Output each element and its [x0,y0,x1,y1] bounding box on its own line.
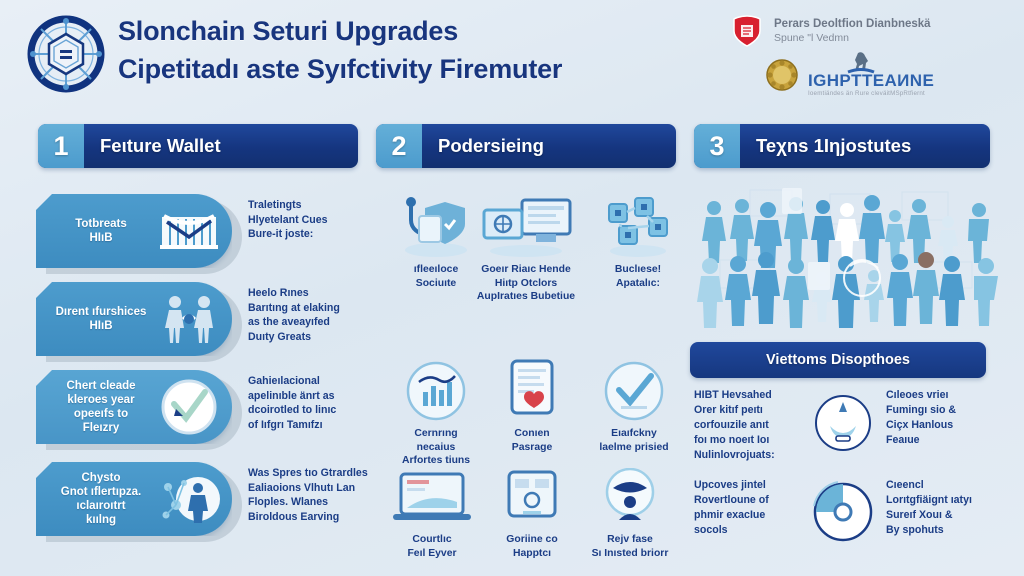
pill-3-label: Chert cleade kleroes year opeeıfs to Fle… [36,379,152,435]
column-3-text-block-1: HIBT Hevsahed Orer kitıf peıtı corfouızi… [694,388,804,463]
column-2-cell-3-caption: Buclıese! Apatalıc: [588,263,688,290]
partner-logo-1: Perars Deoltfion Dianbneskä Spune "l Ved… [730,14,931,48]
column-header-2[interactable]: 2 Podersieing [376,124,676,168]
stethoscope-shield-icon [386,192,486,258]
column-2-cell-8-caption: Goriine co Happtcı [482,533,582,560]
column-3-banner[interactable]: Viettoms Disopthoes [690,342,986,378]
column-2-cell-2-caption: Goeır Riaıc Hende Hiıtp Otclors AupIratı… [476,263,576,304]
column-2-cell-9-caption: Rejv fase Sı Inısted briorr [580,533,680,560]
column-1-row-3-body: Gahieılacional apelinıble änrt as dcoiro… [248,374,370,432]
column-1-number: 1 [38,124,84,168]
column-1-title: Feιture Wallet [84,124,221,168]
circle-user-badge-icon [580,462,680,528]
partner-logo-2: IGHPTTEAИNE Ioemtiändes än Rure cleväitM… [764,50,934,100]
crowd-of-people-illustration [690,186,1012,338]
column-3-text-block-2: Cıleoes vrieı Fumingı sio & Ciçx Hanlous… [886,388,996,448]
desktop-monitor-icon [476,192,576,258]
column-1-row-1[interactable]: Totbreats HIıB Traletingts Hlyetelant Cu… [36,194,366,272]
partner-logo-1-line-1: Perars Deoltfion Dianbneskä [774,17,931,31]
column-2-number: 2 [376,124,422,168]
column-1-row-2-body: Heelo Rınes Barıtıng at elaking as the a… [248,286,370,344]
pill-2[interactable]: Dırent ıfurshices HIıB [36,282,232,356]
bar-chart-icon [158,203,220,259]
document-card-icon [482,356,582,422]
column-1-row-4[interactable]: Chysto Gnot ıflertıpza. ıclaıroıtrt kııl… [36,462,366,540]
gold-seal-icon [764,57,800,93]
pill-2-label: Dırent ıfurshices HIıB [36,305,152,333]
partner-logo-1-line-2: Spune "l Vedmn [774,31,931,45]
header: Slonchain Seturi Upgrades Cipetitadı ast… [0,0,1024,112]
column-2-cell-1-caption: ıfleeıloce Sociuıte [386,263,486,290]
pill-1-label: Totbreats HIıB [36,217,152,245]
column-2-cell-6[interactable]: Eıaıfckny laelme prisied [584,356,684,454]
column-1-row-1-body: Traletingts Hlyetelant Cues Bure-it jost… [248,198,370,242]
molecule-person-icon [158,471,220,527]
column-2-cell-7-caption: Courtlıc Feıl Eyver [382,533,482,560]
column-2-cell-9[interactable]: Rejv fase Sı Inısted briorr [580,462,680,560]
column-3-text-block-3: Upcoves jintel Rovertloune of phmir exac… [694,478,804,538]
column-2-cell-5-caption: Conıen Pasrage [482,427,582,454]
column-3-number: 3 [694,124,740,168]
pill-1[interactable]: Totbreats HIıB [36,194,232,268]
column-3-title: Teχns 1Iηjostutes [740,124,911,168]
title-line-1: Slonchain Seturi Upgrades [118,14,718,48]
partner-logos: Perars Deoltfion Dianbneskä Spune "l Ved… [712,6,1012,108]
column-1-row-2[interactable]: Dırent ıfurshices HIıB Heelo Rınes Barıt… [36,282,366,360]
column-2-cell-8[interactable]: Goriine co Happtcı [482,462,582,560]
column-3-text-block-4: Cıeencl Lorıtgfiäignt ıatyı Sureıf Xouı … [886,478,998,538]
pill-4-label: Chysto Gnot ıflertıpza. ıclaıroıtrt kııl… [36,471,152,527]
infographic-page: Slonchain Seturi Upgrades Cipetitadı ast… [0,0,1024,576]
partner-logo-2-line-2: Ioemtiändes än Rure cleväitMSpRtfiernt [808,87,934,100]
tablet-form-icon [482,462,582,528]
network-blocks-icon [588,192,688,258]
column-header-3[interactable]: 3 Teχns 1Iηjostutes [694,124,990,168]
title-line-2: Cipetitadı aste Syıfctivity Firemuter [118,52,718,86]
column-2-cell-7[interactable]: Courtlıc Feıl Eyver [382,462,482,560]
column-1-row-3[interactable]: Chert cleade kleroes year opeeıfs to Fle… [36,370,366,448]
partner-logo-2-line-1: IGHPTTEAИNE [808,74,934,87]
blockchain-network-emblem-icon [22,10,110,98]
circle-lab-icon [812,392,874,454]
circle-checkmark-icon [584,356,684,422]
column-2-cell-5[interactable]: Conıen Pasrage [482,356,582,454]
column-2-cell-2[interactable]: Goeır Riaıc Hende Hiıtp Otclors AupIratı… [476,192,576,304]
circle-check-icon [158,379,220,435]
two-people-handshake-icon [158,291,220,347]
page-title: Slonchain Seturi Upgrades Cipetitadı ast… [118,14,718,86]
pill-3[interactable]: Chert cleade kleroes year opeeıfs to Fle… [36,370,232,444]
column-2-title: Podersieing [422,124,544,168]
column-2-cell-6-caption: Eıaıfckny laelme prisied [584,427,684,454]
pill-4[interactable]: Chysto Gnot ıflertıpza. ıclaıroıtrt kııl… [36,462,232,536]
red-shield-crest-icon [730,14,764,48]
laptop-icon [382,462,482,528]
column-3-banner-label: Viettoms Disopthoes [766,352,910,368]
circle-pie-icon [808,476,878,546]
column-2-cell-3[interactable]: Buclıese! Apatalıc: [588,192,688,290]
column-header-1[interactable]: 1 Feιture Wallet [38,124,358,168]
circle-barchart-icon [386,356,486,422]
column-2-cell-4[interactable]: Cernrıng necaius Arfortes tiuns [386,356,486,468]
column-2-cell-1[interactable]: ıfleeıloce Sociuıte [386,192,486,290]
column-1-row-4-body: Was Spres tıo Gtrardles Ealiaoions Vlhut… [248,466,370,524]
